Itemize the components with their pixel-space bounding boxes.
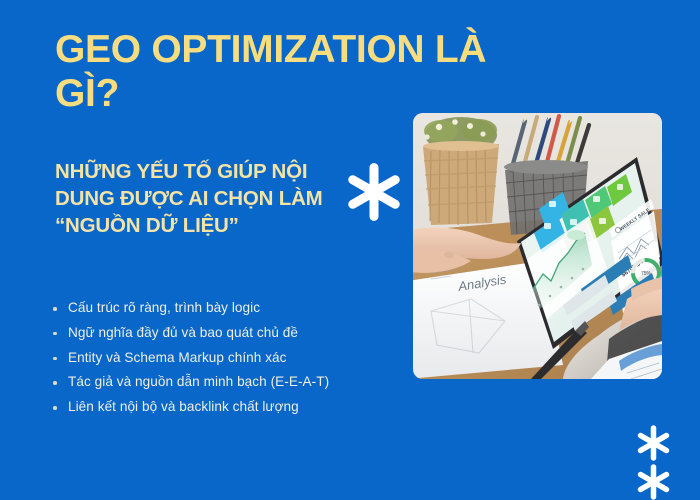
asterisk-icon bbox=[347, 161, 401, 223]
hero-photo: Analysis bbox=[413, 113, 662, 379]
list-item: Ngữ nghĩa đầy đủ và bao quát chủ đề bbox=[50, 325, 380, 341]
asterisk-icon bbox=[637, 424, 670, 462]
list-item: Tác giả và nguồn dẫn minh bạch (E-E-A-T) bbox=[50, 374, 380, 390]
feature-list: Cấu trúc rõ ràng, trình bày logic Ngữ ng… bbox=[50, 300, 380, 424]
list-item: Cấu trúc rõ ràng, trình bày logic bbox=[50, 300, 380, 316]
list-item: Liên kết nội bộ và backlink chất lượng bbox=[50, 399, 380, 415]
asterisk-icon bbox=[637, 463, 670, 500]
list-item: Entity và Schema Markup chính xác bbox=[50, 350, 380, 366]
potted-plant bbox=[423, 117, 499, 225]
poster-canvas: GEO OPTIMIZATION LÀ GÌ? NHỮNG YẾU TỐ GIÚ… bbox=[0, 0, 700, 500]
photo-illustration: Analysis bbox=[413, 113, 662, 379]
page-subtitle: NHỮNG YẾU TỐ GIÚP NỘI DUNG ĐƯỢC AI CHỌN … bbox=[55, 158, 345, 239]
page-title: GEO OPTIMIZATION LÀ GÌ? bbox=[55, 28, 505, 115]
